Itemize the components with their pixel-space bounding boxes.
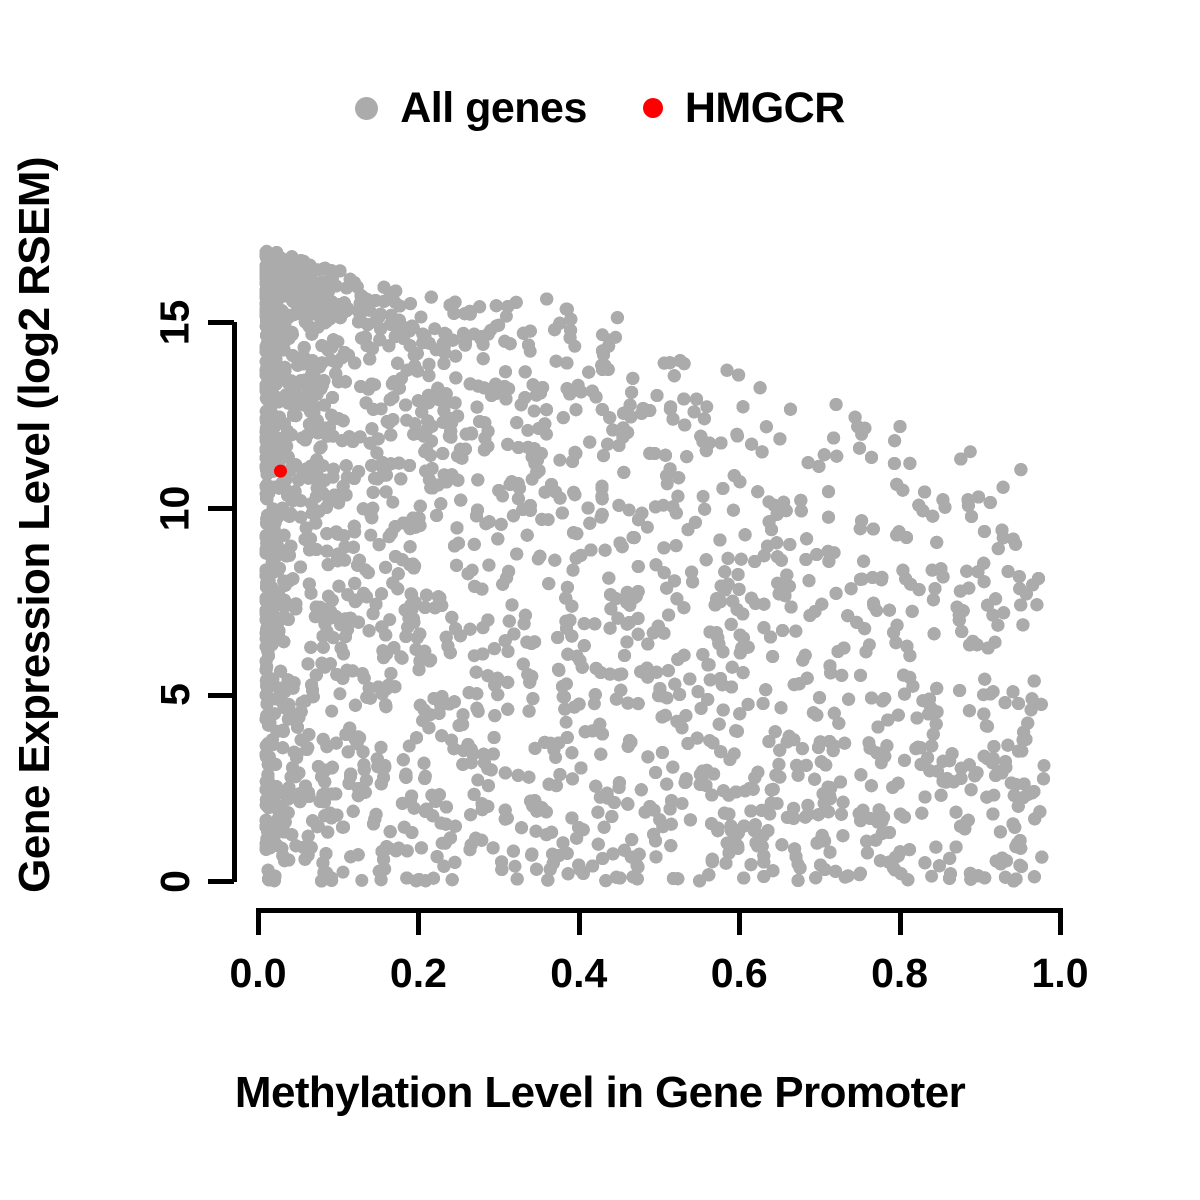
- x-tick-label-0.6: 0.6: [659, 950, 819, 997]
- legend-label-all-genes: All genes: [400, 84, 587, 133]
- all-genes-point-cloud: [260, 245, 1051, 888]
- grey-dot-icon: [355, 97, 378, 120]
- legend-label-hmgcr: HMGCR: [685, 84, 845, 133]
- x-tick-label-0.2: 0.2: [338, 950, 498, 997]
- y-axis-title: Gene Expression Level (log2 RSEM): [13, 157, 57, 893]
- plot-area: [258, 322, 1060, 881]
- x-tick-label-0.4: 0.4: [499, 950, 659, 997]
- red-dot-icon: [643, 98, 663, 118]
- x-tick-label-0.0: 0.0: [178, 950, 338, 997]
- y-axis-title-wrap: Gene Expression Level (log2 RSEM): [2, 0, 68, 1050]
- scatter-plot-figure: All genes HMGCR 051015 0.00.20.40.60.81.…: [0, 0, 1200, 1200]
- x-tick-label-0.8: 0.8: [820, 950, 980, 997]
- legend-item-hmgcr: HMGCR: [643, 84, 845, 133]
- x-tick-label-1.0: 1.0: [980, 950, 1140, 997]
- chart-legend: All genes HMGCR: [0, 76, 1200, 140]
- legend-item-all-genes: All genes: [355, 84, 587, 133]
- x-axis-title: Methylation Level in Gene Promoter: [0, 1068, 1200, 1118]
- hmgcr-point: [274, 465, 287, 478]
- scatter-points: [198, 202, 1158, 922]
